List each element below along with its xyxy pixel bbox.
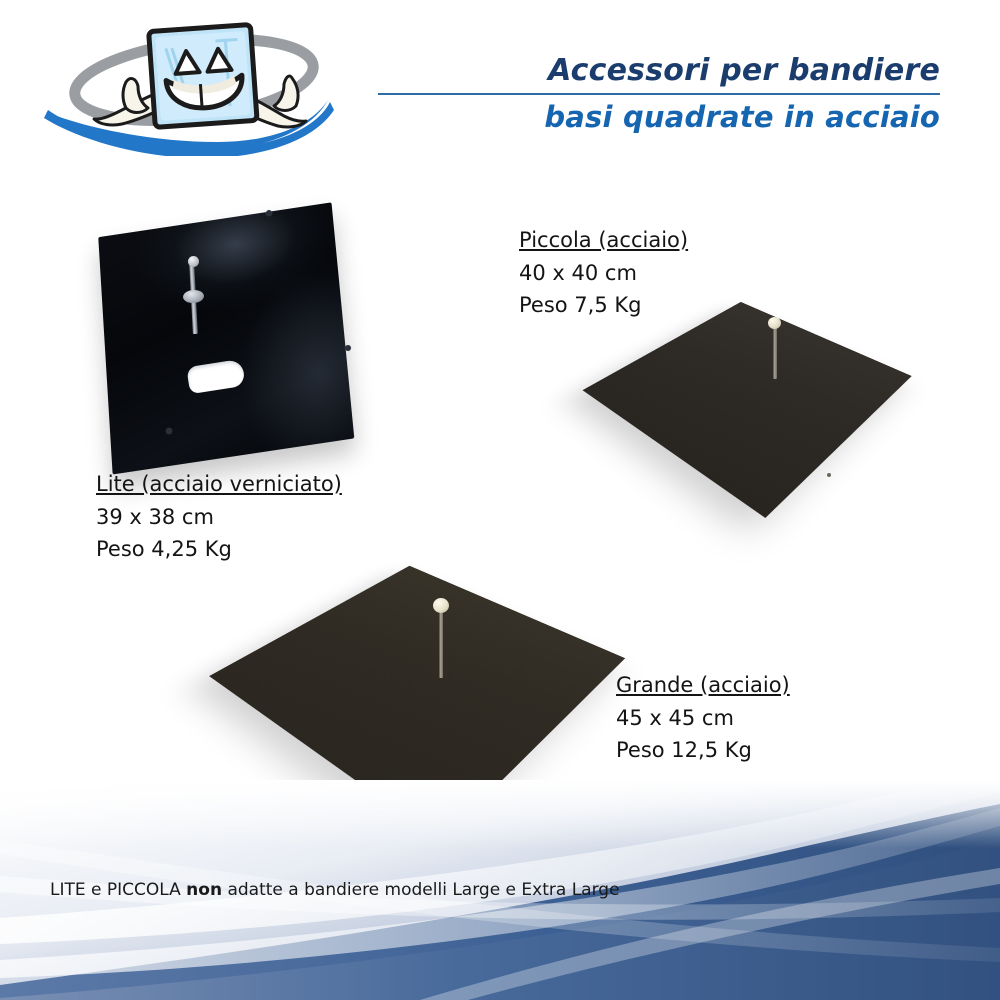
piccola-corner-hole <box>827 473 831 477</box>
product-spec-lite: Lite (acciaio verniciato) 39 x 38 cm Pes… <box>96 472 342 569</box>
lite-corner-hole <box>345 345 351 351</box>
smiling-box-mascot-logo-icon <box>42 16 342 156</box>
lite-pin-cap <box>188 256 199 267</box>
lite-painted-steel-base-plate-photo <box>70 195 400 485</box>
product-weight-piccola: Peso 7,5 Kg <box>519 293 688 317</box>
grande-pin-cap <box>433 598 449 613</box>
page-subtitle: basi quadrate in acciaio <box>370 99 940 135</box>
footer-note-suffix: adatte a bandiere modelli Large e Extra … <box>222 880 619 900</box>
product-spec-grande: Grande (acciaio) 45 x 45 cm Peso 12,5 Kg <box>616 673 790 770</box>
lite-corner-hole <box>166 428 172 434</box>
product-spec-piccola: Piccola (acciaio) 40 x 40 cm Peso 7,5 Kg <box>519 228 688 325</box>
company-logo <box>42 16 342 156</box>
title-divider <box>378 93 940 95</box>
product-title-lite: Lite (acciaio verniciato) <box>96 472 342 496</box>
header-title-group: Accessori per bandiere basi quadrate in … <box>370 52 940 135</box>
product-title-piccola: Piccola (acciaio) <box>519 228 688 252</box>
product-weight-grande: Peso 12,5 Kg <box>616 738 790 762</box>
product-title-grande: Grande (acciaio) <box>616 673 790 697</box>
product-dimensions-grande: 45 x 45 cm <box>616 706 790 730</box>
lite-plate-surface <box>98 202 354 474</box>
lite-corner-hole <box>266 210 272 216</box>
product-dimensions-lite: 39 x 38 cm <box>96 505 342 529</box>
grande-pin-shaft <box>439 610 443 678</box>
piccola-pin-shaft <box>773 325 777 379</box>
piccola-plate-surface <box>583 302 912 518</box>
product-weight-lite: Peso 4,25 Kg <box>96 537 342 561</box>
page-title: Accessori per bandiere <box>370 52 940 90</box>
slide-page: Accessori per bandiere basi quadrate in … <box>0 0 1000 1000</box>
piccola-pin-cap <box>768 317 781 329</box>
footer-note-prefix: LITE e PICCOLA <box>50 880 186 900</box>
footer-note-emphasis: non <box>186 880 222 900</box>
footer-note: LITE e PICCOLA non adatte a bandiere mod… <box>50 880 620 900</box>
product-dimensions-piccola: 40 x 40 cm <box>519 261 688 285</box>
